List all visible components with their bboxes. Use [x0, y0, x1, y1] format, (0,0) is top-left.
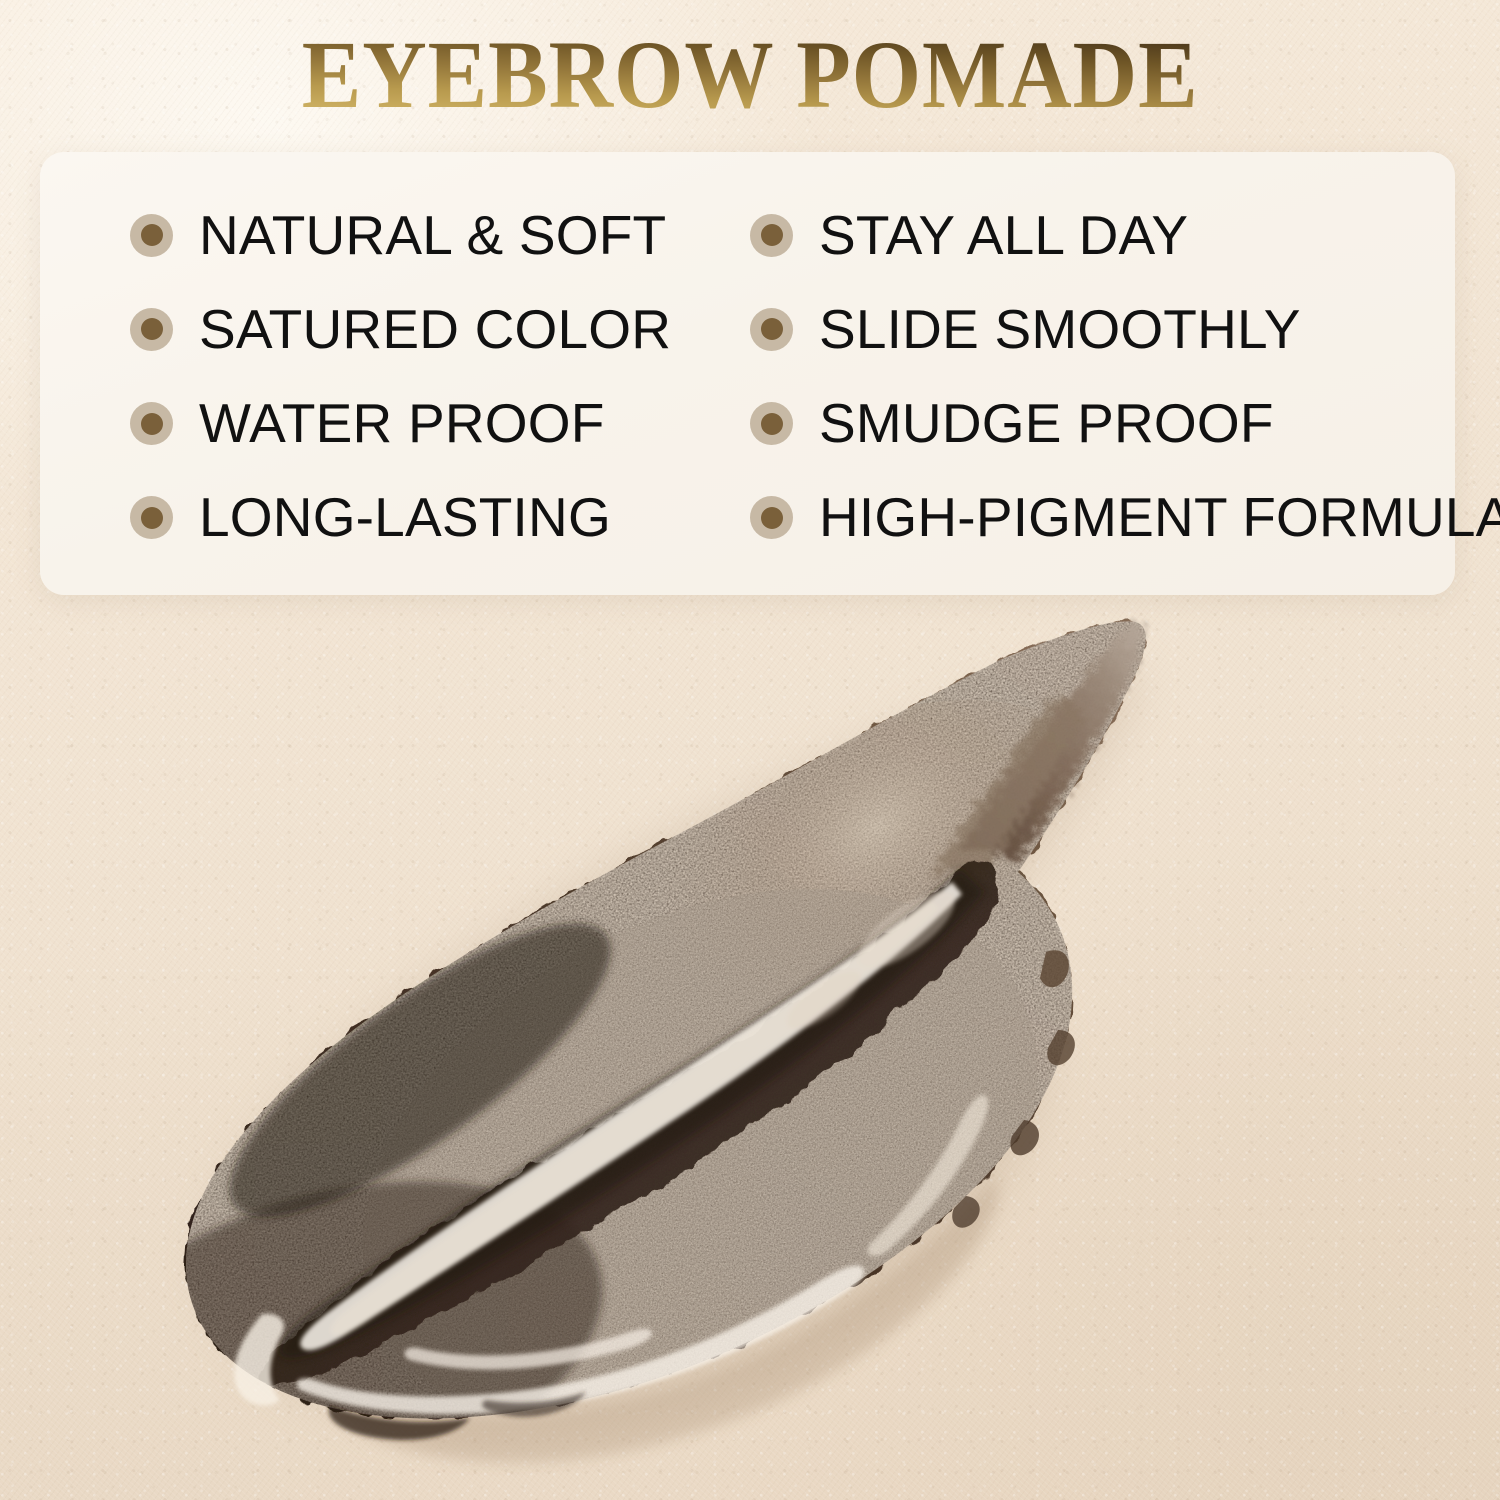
filled-circle-bullet-icon	[130, 496, 173, 539]
feature-item-high-pigment-formula: HIGH-PIGMENT FORMULA	[740, 471, 1455, 565]
filled-circle-bullet-icon	[750, 402, 793, 445]
filled-circle-bullet-icon	[750, 214, 793, 257]
filled-circle-bullet-icon	[130, 402, 173, 445]
feature-label: SLIDE SMOOTHLY	[819, 302, 1301, 357]
feature-label: SMUDGE PROOF	[819, 396, 1274, 451]
feature-item-stay-all-day: STAY ALL DAY	[740, 188, 1455, 282]
feature-label: LONG-LASTING	[199, 490, 611, 545]
feature-label: WATER PROOF	[199, 396, 605, 451]
feature-label: HIGH-PIGMENT FORMULA	[819, 490, 1500, 545]
page-title-text: EYEBROW POMADE	[302, 24, 1199, 126]
feature-item-smudge-proof: SMUDGE PROOF	[740, 377, 1455, 471]
pomade-swatch-image	[0, 600, 1500, 1500]
feature-label: SATURED COLOR	[199, 302, 671, 357]
feature-item-natural-and-soft: NATURAL & SOFT	[40, 188, 740, 282]
filled-circle-bullet-icon	[130, 308, 173, 351]
feature-item-slide-smoothly: SLIDE SMOOTHLY	[740, 282, 1455, 376]
filled-circle-bullet-icon	[750, 496, 793, 539]
page-title: EYEBROW POMADE	[0, 24, 1500, 126]
filled-circle-bullet-icon	[750, 308, 793, 351]
feature-label: NATURAL & SOFT	[199, 208, 666, 263]
product-marketing-image: EYEBROW POMADE NATURAL & SOFT STAY ALL D…	[0, 0, 1500, 1500]
feature-list-grid: NATURAL & SOFT STAY ALL DAY SATURED COLO…	[40, 152, 1455, 595]
feature-label: STAY ALL DAY	[819, 208, 1188, 263]
feature-item-water-proof: WATER PROOF	[40, 377, 740, 471]
pomade-swatch-svg	[0, 600, 1500, 1500]
feature-item-satured-color: SATURED COLOR	[40, 282, 740, 376]
filled-circle-bullet-icon	[130, 214, 173, 257]
feature-list-card: NATURAL & SOFT STAY ALL DAY SATURED COLO…	[40, 152, 1455, 595]
feature-item-long-lasting: LONG-LASTING	[40, 471, 740, 565]
